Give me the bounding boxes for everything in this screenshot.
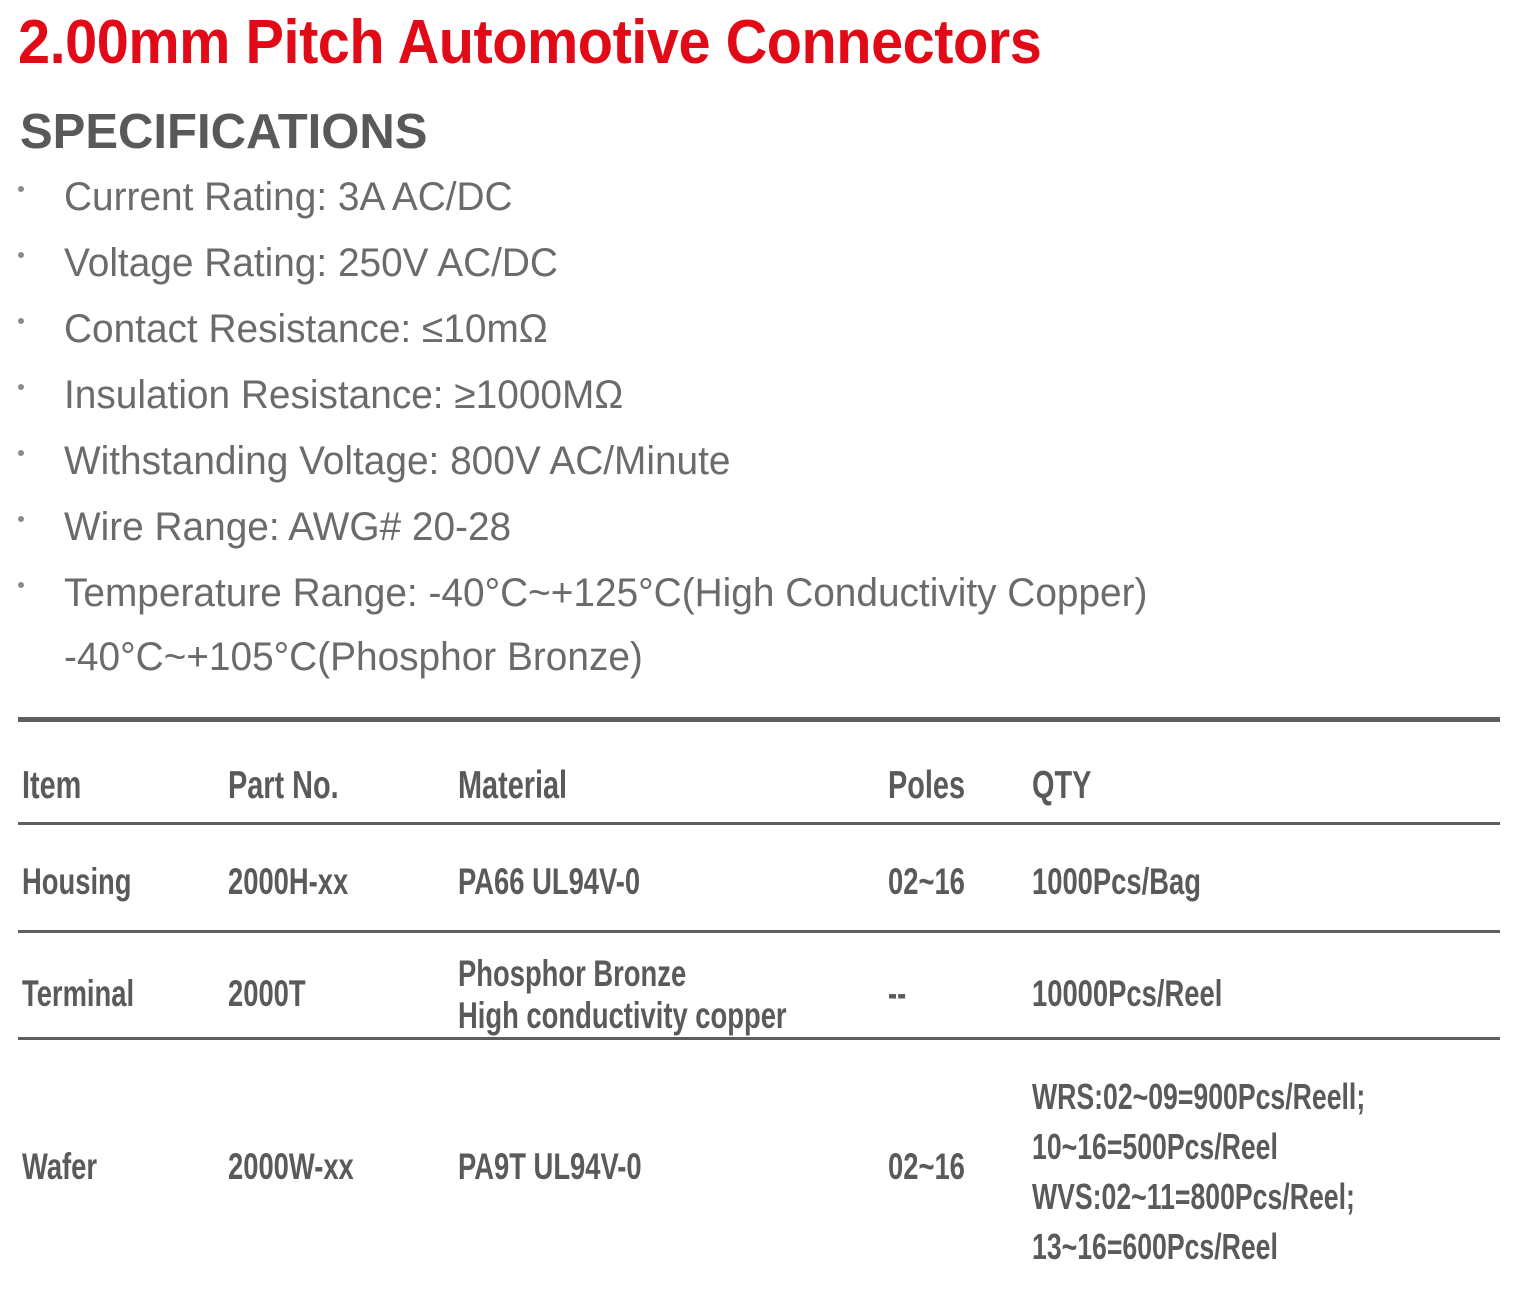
cell-part-no: 2000H-xx xyxy=(228,861,348,903)
cell-qty-line: WRS:02~09=900Pcs/Reell; xyxy=(1032,1072,1365,1122)
table-row-rule xyxy=(18,1037,1500,1040)
cell-material: PA9T UL94V-0 xyxy=(458,1146,642,1188)
cell-item: Terminal xyxy=(22,973,134,1015)
column-header-material: Material xyxy=(458,765,567,807)
list-item-continuation: -40°C~+105°C(Phosphor Bronze) xyxy=(0,632,1500,696)
table-header-row: Item Part No. Material Poles QTY xyxy=(0,745,1519,822)
bullet-icon xyxy=(18,186,24,192)
list-item-label: Current Rating: 3A AC/DC xyxy=(64,166,513,228)
specifications-heading: SPECIFICATIONS xyxy=(20,104,427,160)
cell-poles: 02~16 xyxy=(888,861,965,903)
list-item-label: Voltage Rating: 250V AC/DC xyxy=(64,232,558,294)
list-item: Insulation Resistance: ≥1000MΩ xyxy=(0,368,1500,434)
list-item-label: Wire Range: AWG# 20-28 xyxy=(64,496,511,558)
table-top-rule xyxy=(18,717,1500,722)
bullet-icon xyxy=(18,582,24,588)
column-header-part-no: Part No. xyxy=(228,765,339,807)
list-item: Withstanding Voltage: 800V AC/Minute xyxy=(0,434,1500,500)
list-item-label: Withstanding Voltage: 800V AC/Minute xyxy=(64,430,730,492)
table-header-rule xyxy=(18,822,1500,825)
cell-part-no: 2000T xyxy=(228,973,306,1015)
list-item-label: Temperature Range: -40°C~+125°C(High Con… xyxy=(64,562,1147,624)
cell-material-line: Phosphor Bronze xyxy=(458,953,787,995)
list-item: Contact Resistance: ≤10mΩ xyxy=(0,302,1500,368)
list-item-label: Contact Resistance: ≤10mΩ xyxy=(64,298,548,360)
cell-poles: 02~16 xyxy=(888,1146,965,1188)
cell-qty: 1000Pcs/Bag xyxy=(1032,861,1201,903)
cell-qty-line: 13~16=600Pcs/Reel xyxy=(1032,1222,1365,1272)
bullet-icon xyxy=(18,516,24,522)
list-item-label: Insulation Resistance: ≥1000MΩ xyxy=(64,364,623,426)
cell-qty-line: WVS:02~11=800Pcs/Reel; xyxy=(1032,1172,1365,1222)
list-item: Wire Range: AWG# 20-28 xyxy=(0,500,1500,566)
cell-item: Housing xyxy=(22,861,132,903)
list-item: Current Rating: 3A AC/DC xyxy=(0,170,1500,236)
bullet-icon xyxy=(18,450,24,456)
bullet-icon xyxy=(18,384,24,390)
list-item-continuation-label: -40°C~+105°C(Phosphor Bronze) xyxy=(64,626,643,688)
cell-item: Wafer xyxy=(22,1146,97,1188)
table-row: Terminal 2000T Phosphor Bronze High cond… xyxy=(0,943,1519,1037)
cell-poles: -- xyxy=(888,973,906,1015)
page-title: 2.00mm Pitch Automotive Connectors xyxy=(18,6,1394,80)
cell-qty: WRS:02~09=900Pcs/Reell; 10~16=500Pcs/Ree… xyxy=(1032,1072,1365,1272)
column-header-qty: QTY xyxy=(1032,765,1091,807)
cell-part-no: 2000W-xx xyxy=(228,1146,354,1188)
specifications-list: Current Rating: 3A AC/DC Voltage Rating:… xyxy=(0,170,1500,696)
table-row: Wafer 2000W-xx PA9T UL94V-0 02~16 WRS:02… xyxy=(0,1050,1519,1280)
cell-qty: 10000Pcs/Reel xyxy=(1032,973,1222,1015)
table-row-rule xyxy=(18,930,1500,933)
list-item: Voltage Rating: 250V AC/DC xyxy=(0,236,1500,302)
bullet-icon xyxy=(18,252,24,258)
column-header-poles: Poles xyxy=(888,765,965,807)
cell-qty-line: 10~16=500Pcs/Reel xyxy=(1032,1122,1365,1172)
list-item: Temperature Range: -40°C~+125°C(High Con… xyxy=(0,566,1500,632)
cell-material-line: High conductivity copper xyxy=(458,995,787,1037)
bullet-icon xyxy=(18,318,24,324)
cell-material: PA66 UL94V-0 xyxy=(458,861,640,903)
column-header-item: Item xyxy=(22,765,81,807)
cell-material: Phosphor Bronze High conductivity copper xyxy=(458,953,787,1037)
table-row: Housing 2000H-xx PA66 UL94V-0 02~16 1000… xyxy=(0,835,1519,930)
